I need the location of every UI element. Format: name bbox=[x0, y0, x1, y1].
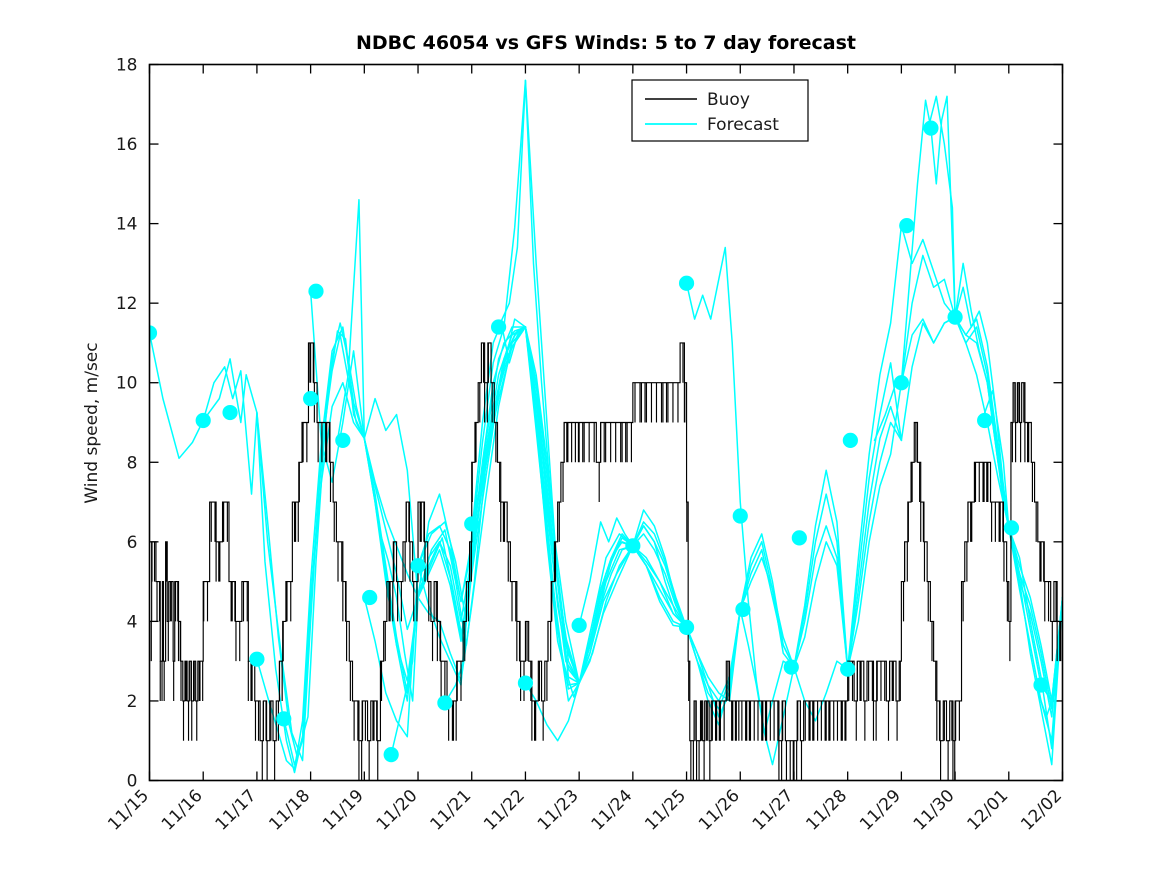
forecast-init-marker bbox=[733, 508, 748, 523]
y-tick-label: 10 bbox=[116, 374, 138, 394]
forecast-init-marker bbox=[276, 711, 291, 726]
forecast-init-marker bbox=[249, 652, 264, 667]
forecast-init-marker bbox=[335, 433, 350, 448]
forecast-init-marker bbox=[1033, 677, 1048, 692]
y-tick-label: 8 bbox=[127, 453, 138, 473]
y-tick-label: 14 bbox=[116, 215, 138, 235]
y-tick-label: 12 bbox=[116, 294, 138, 314]
forecast-init-marker bbox=[840, 662, 855, 677]
forecast-init-marker bbox=[679, 276, 694, 291]
y-tick-label: 16 bbox=[116, 135, 138, 155]
forecast-init-marker bbox=[437, 695, 452, 710]
legend-label-forecast: Forecast bbox=[707, 115, 779, 135]
chart-page: NDBC 46054 vs GFS Winds: 5 to 7 day fore… bbox=[0, 0, 1167, 875]
y-axis-label: Wind speed, m/sec bbox=[82, 342, 102, 503]
forecast-init-marker bbox=[899, 218, 914, 233]
y-tick-label: 2 bbox=[127, 692, 138, 712]
chart-legend[interactable]: Buoy Forecast bbox=[632, 80, 808, 141]
forecast-init-marker bbox=[792, 530, 807, 545]
forecast-init-marker bbox=[843, 433, 858, 448]
forecast-init-marker bbox=[410, 558, 425, 573]
forecast-init-marker bbox=[977, 413, 992, 428]
forecast-init-marker bbox=[1004, 520, 1019, 535]
forecast-init-marker bbox=[308, 284, 323, 299]
forecast-init-marker bbox=[625, 538, 640, 553]
forecast-init-marker bbox=[894, 375, 909, 390]
legend-label-buoy: Buoy bbox=[707, 90, 750, 110]
y-tick-label: 18 bbox=[116, 56, 138, 76]
y-tick-label: 4 bbox=[127, 612, 138, 632]
y-tick-label: 6 bbox=[127, 533, 138, 553]
forecast-init-marker bbox=[222, 405, 237, 420]
forecast-init-marker bbox=[464, 516, 479, 531]
forecast-init-marker bbox=[384, 747, 399, 762]
chart-title: NDBC 46054 vs GFS Winds: 5 to 7 day fore… bbox=[356, 32, 856, 54]
forecast-init-marker bbox=[572, 618, 587, 633]
forecast-init-marker bbox=[303, 391, 318, 406]
forecast-init-marker bbox=[923, 121, 938, 136]
forecast-init-marker bbox=[362, 590, 377, 605]
forecast-init-marker bbox=[518, 675, 533, 690]
forecast-init-marker bbox=[679, 620, 694, 635]
forecast-init-marker bbox=[491, 319, 506, 334]
forecast-init-marker bbox=[196, 413, 211, 428]
forecast-init-marker bbox=[784, 660, 799, 675]
forecast-init-marker bbox=[947, 309, 962, 324]
wind-speed-forecast-chart: NDBC 46054 vs GFS Winds: 5 to 7 day fore… bbox=[0, 0, 1167, 875]
forecast-init-marker bbox=[735, 602, 750, 617]
figure-background bbox=[0, 0, 1167, 875]
